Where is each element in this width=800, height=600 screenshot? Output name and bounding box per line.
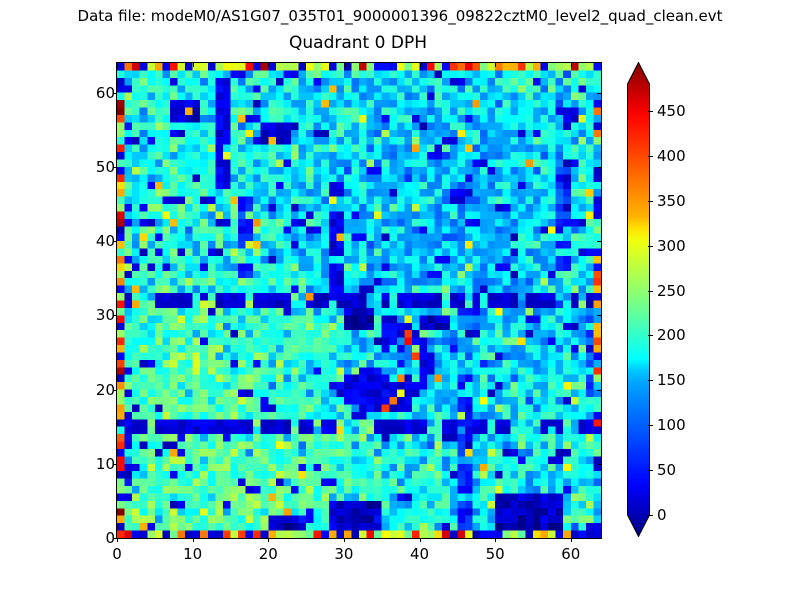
x-tick-mark <box>571 538 572 542</box>
y-tick-label: 50 <box>55 158 115 176</box>
figure-suptitle: Data file: modeM0/AS1G07_035T01_90000013… <box>0 7 800 26</box>
colorbar-tick-mark <box>648 246 653 247</box>
x-tick-label: 30 <box>314 545 374 563</box>
colorbar-tick-label: 350 <box>657 192 686 210</box>
colorbar-tick-mark <box>648 335 653 336</box>
y-tick-label: 20 <box>55 381 115 399</box>
colorbar-tick-label: 300 <box>657 237 686 255</box>
y-tick-label: 30 <box>55 306 115 324</box>
x-tick-mark <box>268 538 269 542</box>
x-tick-mark-top <box>344 63 345 67</box>
x-tick-mark <box>117 538 118 542</box>
colorbar-tick-label: 100 <box>657 416 686 434</box>
x-tick-mark-top <box>193 63 194 67</box>
colorbar-tick-label: 0 <box>657 506 667 524</box>
x-tick-mark-top <box>420 63 421 67</box>
y-tick-label: 10 <box>55 455 115 473</box>
y-tick-mark-right <box>597 390 601 391</box>
colorbar-tick-label: 150 <box>657 371 686 389</box>
x-tick-label: 40 <box>390 545 450 563</box>
colorbar[interactable]: 050100150200250300350400450 <box>627 62 747 537</box>
y-tick-mark-right <box>597 538 601 539</box>
heatmap-image[interactable] <box>117 63 601 538</box>
colorbar-tick-label: 200 <box>657 326 686 344</box>
x-tick-label: 60 <box>541 545 601 563</box>
y-tick-mark-right <box>597 93 601 94</box>
x-tick-label: 0 <box>87 545 147 563</box>
heatmap-pixels <box>117 63 601 538</box>
colorbar-tick-mark <box>648 111 653 112</box>
x-tick-mark-top <box>268 63 269 67</box>
x-tick-mark-top <box>571 63 572 67</box>
colorbar-tick-label: 50 <box>657 461 676 479</box>
y-tick-mark-right <box>597 241 601 242</box>
y-tick-mark-right <box>597 167 601 168</box>
x-tick-mark <box>420 538 421 542</box>
colorbar-gradient <box>627 62 657 537</box>
colorbar-tick-label: 450 <box>657 102 686 120</box>
colorbar-tick-mark <box>648 156 653 157</box>
x-tick-label: 10 <box>163 545 223 563</box>
figure-canvas: Data file: modeM0/AS1G07_035T01_90000013… <box>0 0 800 600</box>
heatmap-axes[interactable]: 0102030405060 0102030405060 <box>116 62 602 539</box>
axes-title: Quadrant 0 DPH <box>116 33 600 54</box>
y-tick-label: 40 <box>55 232 115 250</box>
y-tick-label: 0 <box>55 529 115 547</box>
colorbar-tick-mark <box>648 291 653 292</box>
y-tick-mark-right <box>597 315 601 316</box>
y-tick-mark-right <box>597 464 601 465</box>
x-tick-mark <box>193 538 194 542</box>
colorbar-tick-mark <box>648 515 653 516</box>
y-tick-label: 60 <box>55 84 115 102</box>
x-tick-mark-top <box>117 63 118 67</box>
colorbar-tick-label: 400 <box>657 147 686 165</box>
colorbar-tick-mark <box>648 425 653 426</box>
x-tick-label: 20 <box>238 545 298 563</box>
x-tick-mark <box>495 538 496 542</box>
colorbar-tick-mark <box>648 201 653 202</box>
x-tick-mark <box>344 538 345 542</box>
colorbar-tick-mark <box>648 470 653 471</box>
x-tick-mark-top <box>495 63 496 67</box>
x-tick-label: 50 <box>465 545 525 563</box>
colorbar-tick-mark <box>648 380 653 381</box>
colorbar-tick-label: 250 <box>657 282 686 300</box>
